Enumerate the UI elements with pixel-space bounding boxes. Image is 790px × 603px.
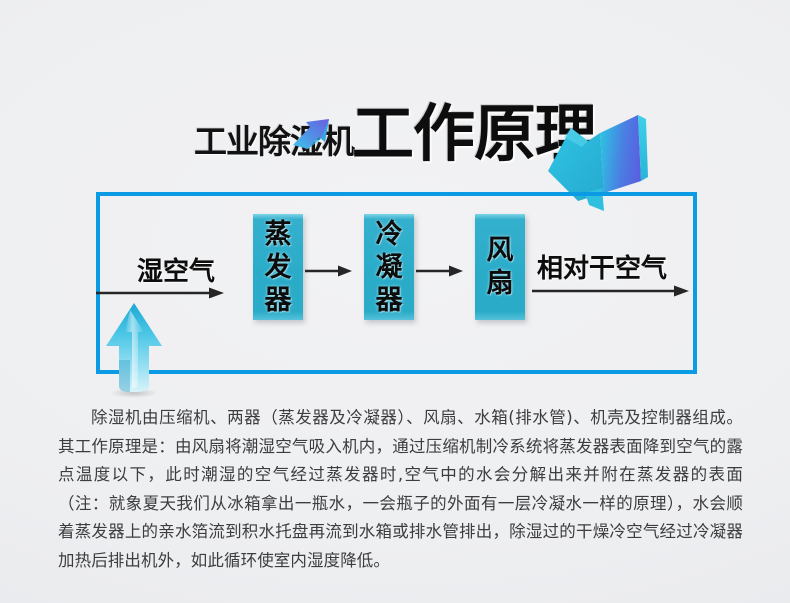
process-box-fan: 风 扇 — [475, 214, 525, 320]
box-char: 器 — [265, 284, 292, 317]
box-char: 冷 — [376, 218, 403, 251]
arrow-up-glossy-icon — [100, 300, 172, 398]
process-box-evaporator: 蒸 发 器 — [253, 214, 303, 320]
box-char: 器 — [376, 284, 403, 317]
process-diagram-frame: 湿空气 蒸 发 器 冷 凝 器 — [96, 192, 697, 374]
description-paragraph: 除湿机由压缩机、两器（蒸发器及冷凝器）、风扇、水箱(排水管)、机壳及控制器组成。… — [58, 404, 743, 575]
product-detail-page: 工业除湿机 工作原理 — [0, 0, 790, 603]
arrow-right-icon — [96, 286, 224, 298]
header-banner: 工业除湿机 工作原理 — [0, 55, 790, 165]
arrow-right-icon — [532, 284, 689, 296]
box-char: 风 — [487, 234, 514, 267]
arrow-right-icon — [305, 264, 352, 276]
box-char: 蒸 — [265, 218, 292, 251]
box-char: 扇 — [487, 267, 514, 300]
inlet-label: 湿空气 — [137, 251, 215, 288]
arrow-right-icon — [416, 264, 463, 276]
title-row: 工业除湿机 工作原理 — [0, 55, 790, 165]
outlet-label: 相对干空气 — [537, 248, 667, 285]
description-text: 除湿机由压缩机、两器（蒸发器及冷凝器）、风扇、水箱(排水管)、机壳及控制器组成。… — [58, 404, 743, 575]
box-char: 发 — [265, 251, 292, 284]
process-box-condenser: 冷 凝 器 — [364, 214, 414, 320]
arrow-upright-icon — [288, 115, 342, 161]
box-char: 凝 — [376, 251, 403, 284]
